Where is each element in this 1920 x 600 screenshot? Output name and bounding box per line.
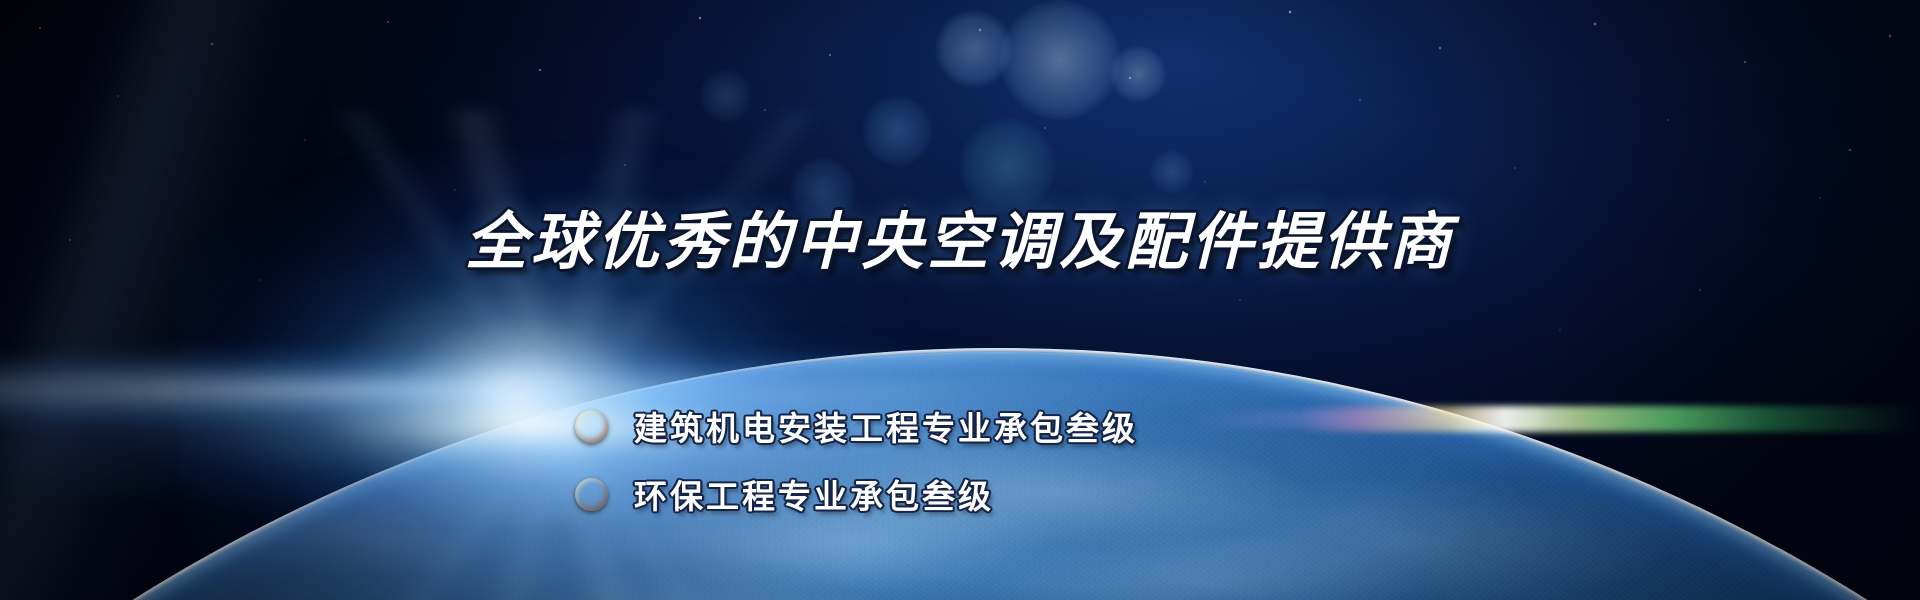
list-item-label: 建筑机电安装工程专业承包叁级 [634,402,1138,450]
certification-list: 建筑机电安装工程专业承包叁级 环保工程专业承包叁级 [575,392,1138,528]
banner-content: 全球优秀的中央空调及配件提供商 建筑机电安装工程专业承包叁级 环保工程专业承包叁… [0,0,1920,600]
banner-headline: 全球优秀的中央空调及配件提供商 [0,205,1920,278]
list-item: 环保工程专业承包叁级 [575,460,1138,528]
orange-dot-icon [575,410,608,443]
orange-dot-icon [575,478,608,511]
list-item-label: 环保工程专业承包叁级 [634,470,994,518]
list-item: 建筑机电安装工程专业承包叁级 [575,392,1138,460]
hero-banner: 全球优秀的中央空调及配件提供商 建筑机电安装工程专业承包叁级 环保工程专业承包叁… [0,0,1920,600]
